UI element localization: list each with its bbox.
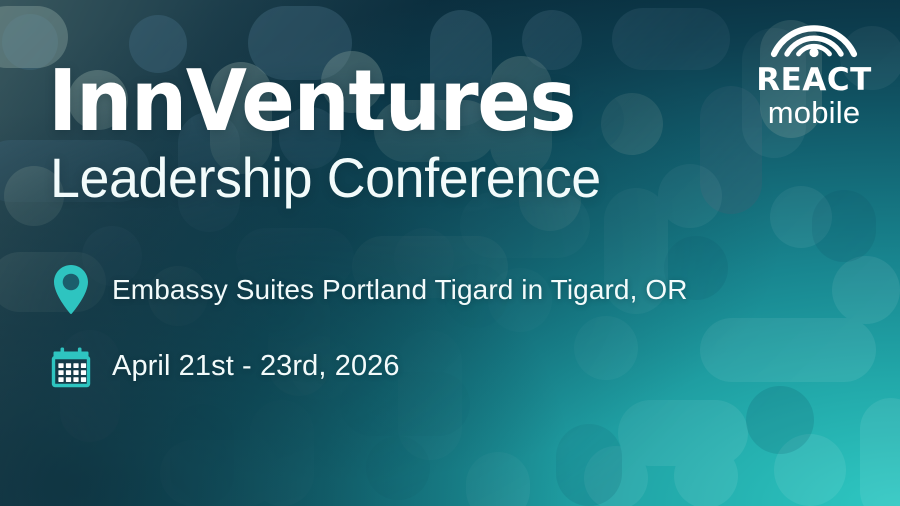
banner-content: InnVentures Leadership Conference Embass…	[48, 62, 748, 388]
event-date-text: April 21st - 23rd, 2026	[112, 350, 400, 383]
event-date-row: April 21st - 23rd, 2026	[48, 346, 748, 388]
conference-banner: InnVentures Leadership Conference Embass…	[0, 0, 900, 506]
logo-word-react: REACT	[750, 65, 878, 96]
map-pin-icon	[48, 264, 94, 316]
event-location-text: Embassy Suites Portland Tigard in Tigard…	[112, 274, 688, 306]
calendar-icon	[48, 346, 94, 388]
page-subtitle: Leadership Conference	[50, 149, 720, 208]
event-details-list: Embassy Suites Portland Tigard in Tigard…	[48, 264, 748, 388]
page-title: InnVentures	[48, 62, 699, 143]
wifi-signal-icon	[750, 14, 878, 63]
logo-word-mobile: mobile	[750, 96, 878, 129]
react-mobile-logo: REACT mobile	[750, 14, 878, 129]
event-location-row: Embassy Suites Portland Tigard in Tigard…	[48, 264, 748, 316]
